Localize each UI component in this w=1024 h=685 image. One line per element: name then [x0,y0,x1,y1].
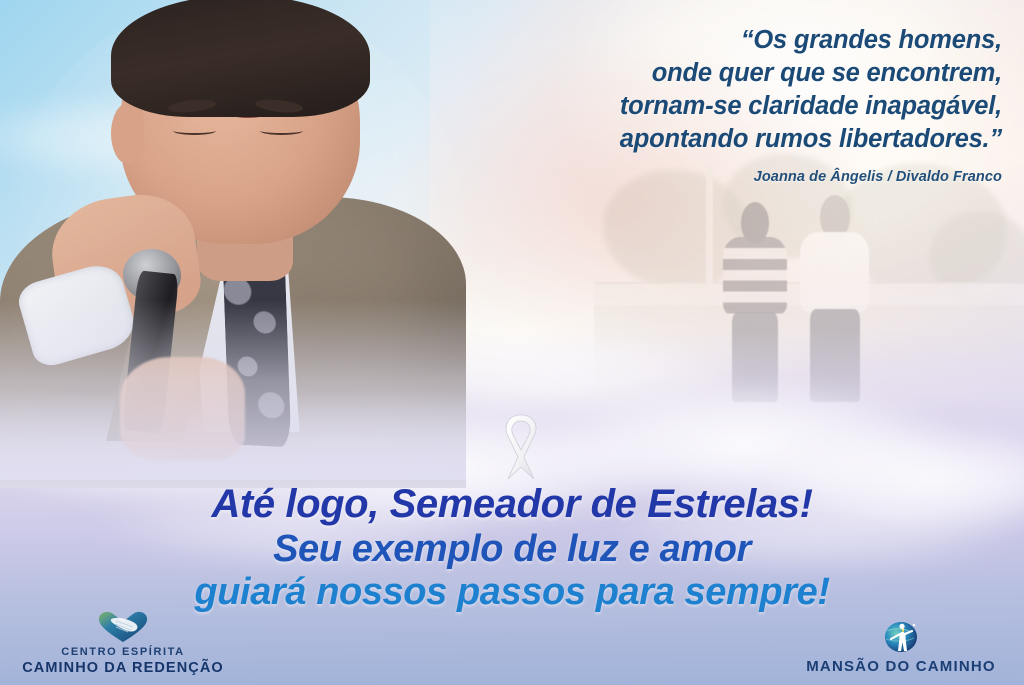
quote-author: Joanna de Ângelis / Divaldo Franco [402,169,1002,185]
logo-mansao-do-caminho: MANSÃO DO CAMINHO [786,615,1016,675]
logo-centro-espirita: CENTRO ESPÍRITA CAMINHO DA REDENÇÃO [8,609,238,677]
quote-block: “Os grandes homens, onde quer que se enc… [402,24,1002,185]
person-torso [723,237,788,314]
ribbon-icon [506,415,536,479]
heart-hands-icon [95,609,151,643]
portrait-bottom-fade [0,300,466,480]
headline-line-1: Até logo, Semeador de Estrelas! [0,484,1024,526]
person-torso [800,232,869,312]
logo-line-1: CENTRO ESPÍRITA [8,646,238,660]
logo-line-2: CAMINHO DA REDENÇÃO [8,660,238,677]
ear [111,103,145,164]
quote-line-4: apontando rumos libertadores.” [402,123,1002,156]
pole [706,164,713,305]
headline-line-3: guiará nossos passos para sempre! [0,573,1024,613]
hair [111,0,370,117]
globe-figure-flame-icon [876,615,926,655]
headline-block: Até logo, Semeador de Estrelas! Seu exem… [0,484,1024,613]
quote-line-3: tornam-se claridade inapagável, [402,90,1002,123]
logo-line-1: MANSÃO DO CAMINHO [786,658,1016,675]
headline-line-2: Seu exemplo de luz e amor [0,530,1024,570]
eye [173,126,216,135]
mourning-ribbon [484,409,558,483]
quote-line-2: onde quer que se encontrem, [402,57,1002,90]
memorial-poster: “Os grandes homens, onde quer que se enc… [0,0,1024,685]
eye [260,126,303,135]
quote-line-1: “Os grandes homens, [402,24,1002,57]
